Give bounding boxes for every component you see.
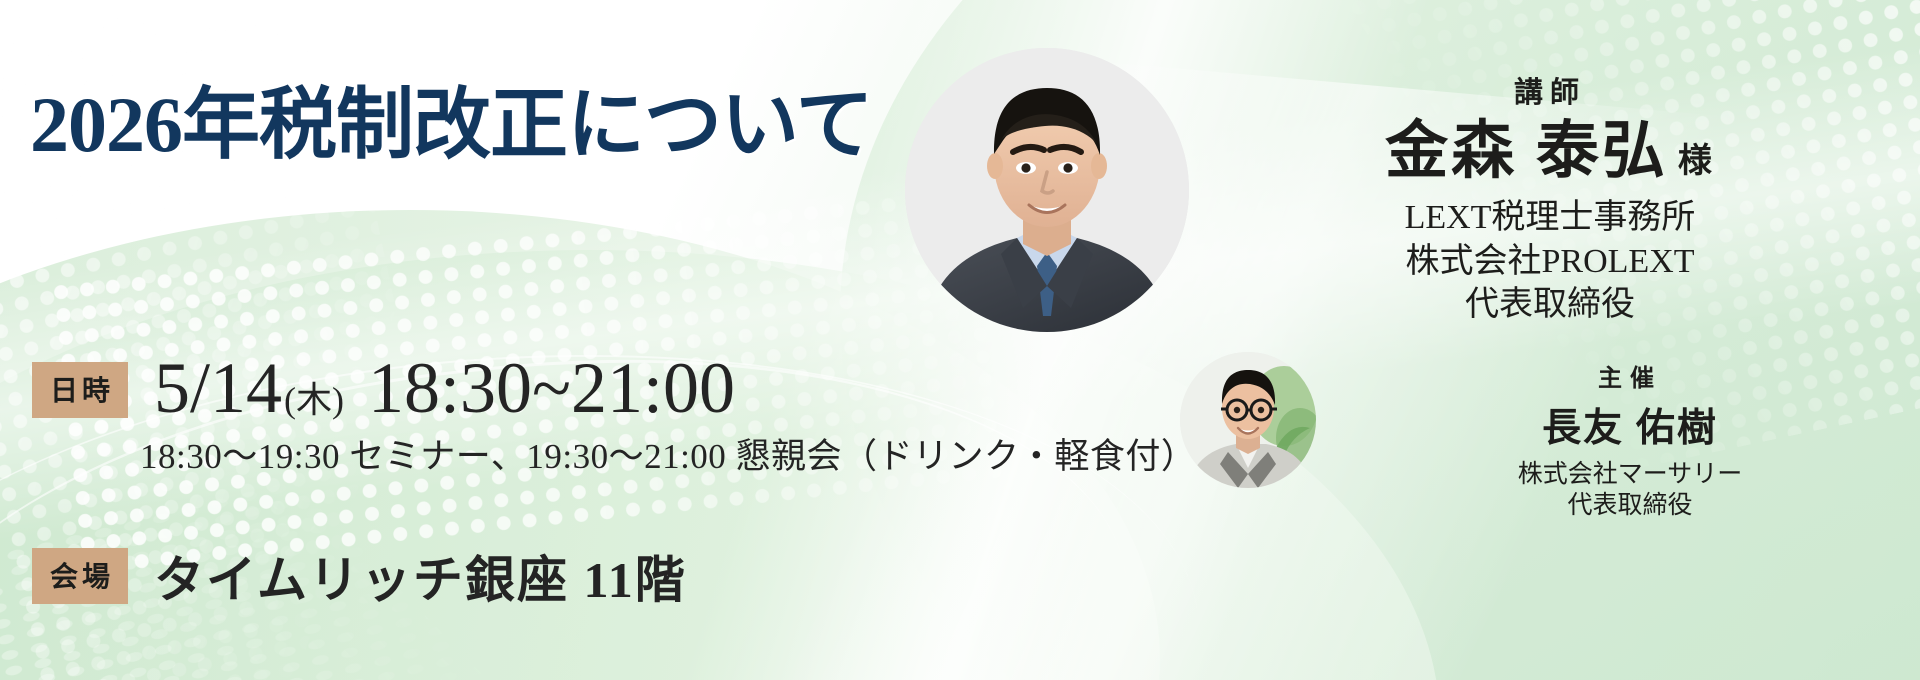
date-time-range: 18:30~21:00 [368, 352, 735, 424]
date-day: 5/14 [154, 352, 282, 424]
speaker-affiliation: LEXT税理士事務所 株式会社PROLEXT 代表取締役 [1200, 196, 1900, 327]
host-affiliation-line: 株式会社マーサリー [1350, 459, 1910, 490]
host-role-label: 主催 [1350, 358, 1910, 393]
speaker-affiliation-line: LEXT税理士事務所 [1200, 196, 1900, 240]
venue-row: 会場 タイムリッチ銀座 11階 [32, 540, 687, 612]
speaker-name: 金森 泰弘様 [1200, 116, 1900, 187]
host-name: 長友 佑樹 [1350, 397, 1910, 453]
host-affiliation-line: 代表取締役 [1350, 490, 1910, 521]
page-title: 2026年税制改正について [30, 62, 873, 174]
left-content-column: 2026年税制改正について 日時 5/14 (木) 18:30~21:00 18… [0, 0, 1180, 680]
speaker-role-label: 講師 [1200, 78, 1900, 110]
right-content-column: 講師 金森 泰弘様 LEXT税理士事務所 株式会社PROLEXT 代表取締役 主… [1190, 0, 1920, 680]
schedule-detail: 18:30〜19:30 セミナー、19:30〜21:00 懇親会（ドリンク・軽食… [140, 428, 1196, 479]
speaker-honorific: 様 [1678, 143, 1715, 180]
speaker-affiliation-line: 代表取締役 [1200, 283, 1900, 327]
speaker-block: 講師 金森 泰弘様 LEXT税理士事務所 株式会社PROLEXT 代表取締役 [1200, 78, 1900, 327]
host-block: 主催 長友 佑樹 株式会社マーサリー 代表取締役 [1350, 358, 1910, 522]
host-affiliation: 株式会社マーサリー 代表取締役 [1350, 459, 1910, 522]
venue-name: タイムリッチ銀座 11階 [154, 540, 687, 612]
speaker-portrait-image [905, 48, 1189, 332]
date-value: 5/14 (木) 18:30~21:00 [154, 352, 735, 424]
venue-tag-label: 会場 [32, 548, 128, 604]
speaker-name-text: 金森 泰弘 [1385, 116, 1668, 186]
date-row: 日時 5/14 (木) 18:30~21:00 [32, 352, 735, 424]
speaker-portrait-icon [905, 48, 1189, 332]
date-weekday: (木) [284, 382, 344, 418]
seminar-banner: 2026年税制改正について 日時 5/14 (木) 18:30~21:00 18… [0, 0, 1920, 680]
date-tag-label: 日時 [32, 362, 128, 418]
speaker-affiliation-line: 株式会社PROLEXT [1200, 240, 1900, 284]
